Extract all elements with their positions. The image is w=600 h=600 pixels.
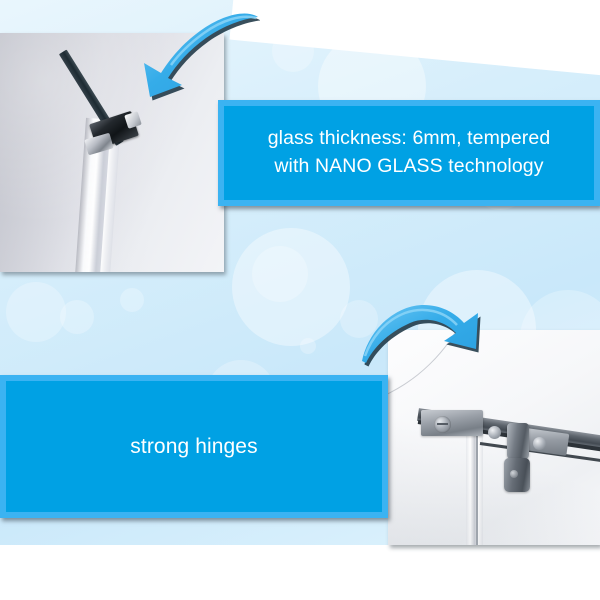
glass-caption-inner: glass thickness: 6mm, tempered with NANO… — [224, 106, 594, 200]
hinges-caption-text: strong hinges — [120, 432, 267, 462]
bokeh-circle — [272, 30, 314, 72]
hinges-caption-inner: strong hinges — [6, 381, 382, 512]
bokeh-circle — [60, 300, 94, 334]
curved-arrow-down-right-icon — [358, 298, 490, 394]
curved-arrow-down-left-icon — [128, 8, 260, 108]
bokeh-circle — [252, 246, 308, 302]
glass-caption-text: glass thickness: 6mm, tempered with NANO… — [258, 125, 561, 180]
glass-caption-box: glass thickness: 6mm, tempered with NANO… — [218, 100, 600, 206]
hinges-caption-box: strong hinges — [0, 375, 388, 518]
bokeh-circle — [300, 338, 316, 354]
bokeh-circle — [6, 282, 66, 342]
product-feature-graphic: glass thickness: 6mm, tempered with NANO… — [0, 0, 600, 600]
bokeh-circle — [120, 288, 144, 312]
